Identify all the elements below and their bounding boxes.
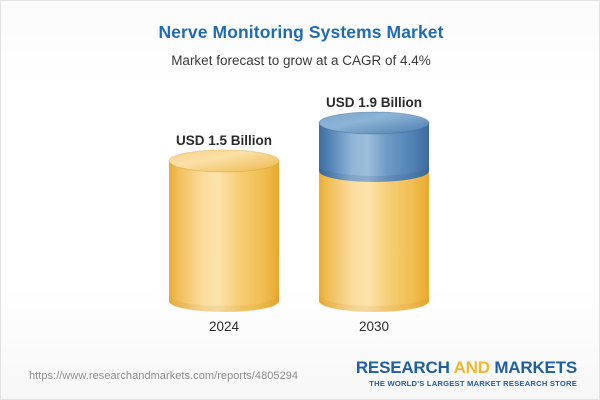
logo-tagline: THE WORLD'S LARGEST MARKET RESEARCH STOR… (356, 379, 577, 388)
plot-area: USD 1.5 Billion (1, 1, 600, 349)
bar-group-2024: USD 1.5 Billion (164, 1, 284, 349)
research-and-markets-logo[interactable]: RESEARCH AND MARKETS THE WORLD'S LARGEST… (356, 359, 577, 388)
chart-canvas: Nerve Monitoring Systems Market Market f… (0, 0, 600, 400)
logo-wordmark: RESEARCH AND MARKETS (356, 359, 577, 377)
logo-word-and: AND (454, 358, 490, 377)
logo-word-research: RESEARCH (356, 358, 450, 377)
logo-word-markets: MARKETS (494, 358, 577, 377)
bar-year-label-2030: 2030 (314, 319, 434, 334)
source-url[interactable]: https://www.researchandmarkets.com/repor… (29, 370, 298, 382)
bar-group-2030: USD 1.9 Billion (314, 1, 434, 349)
bar-cylinder-2030 (314, 1, 434, 349)
bar-year-label-2024: 2024 (164, 319, 284, 334)
bar-cylinder-2024 (164, 1, 284, 349)
